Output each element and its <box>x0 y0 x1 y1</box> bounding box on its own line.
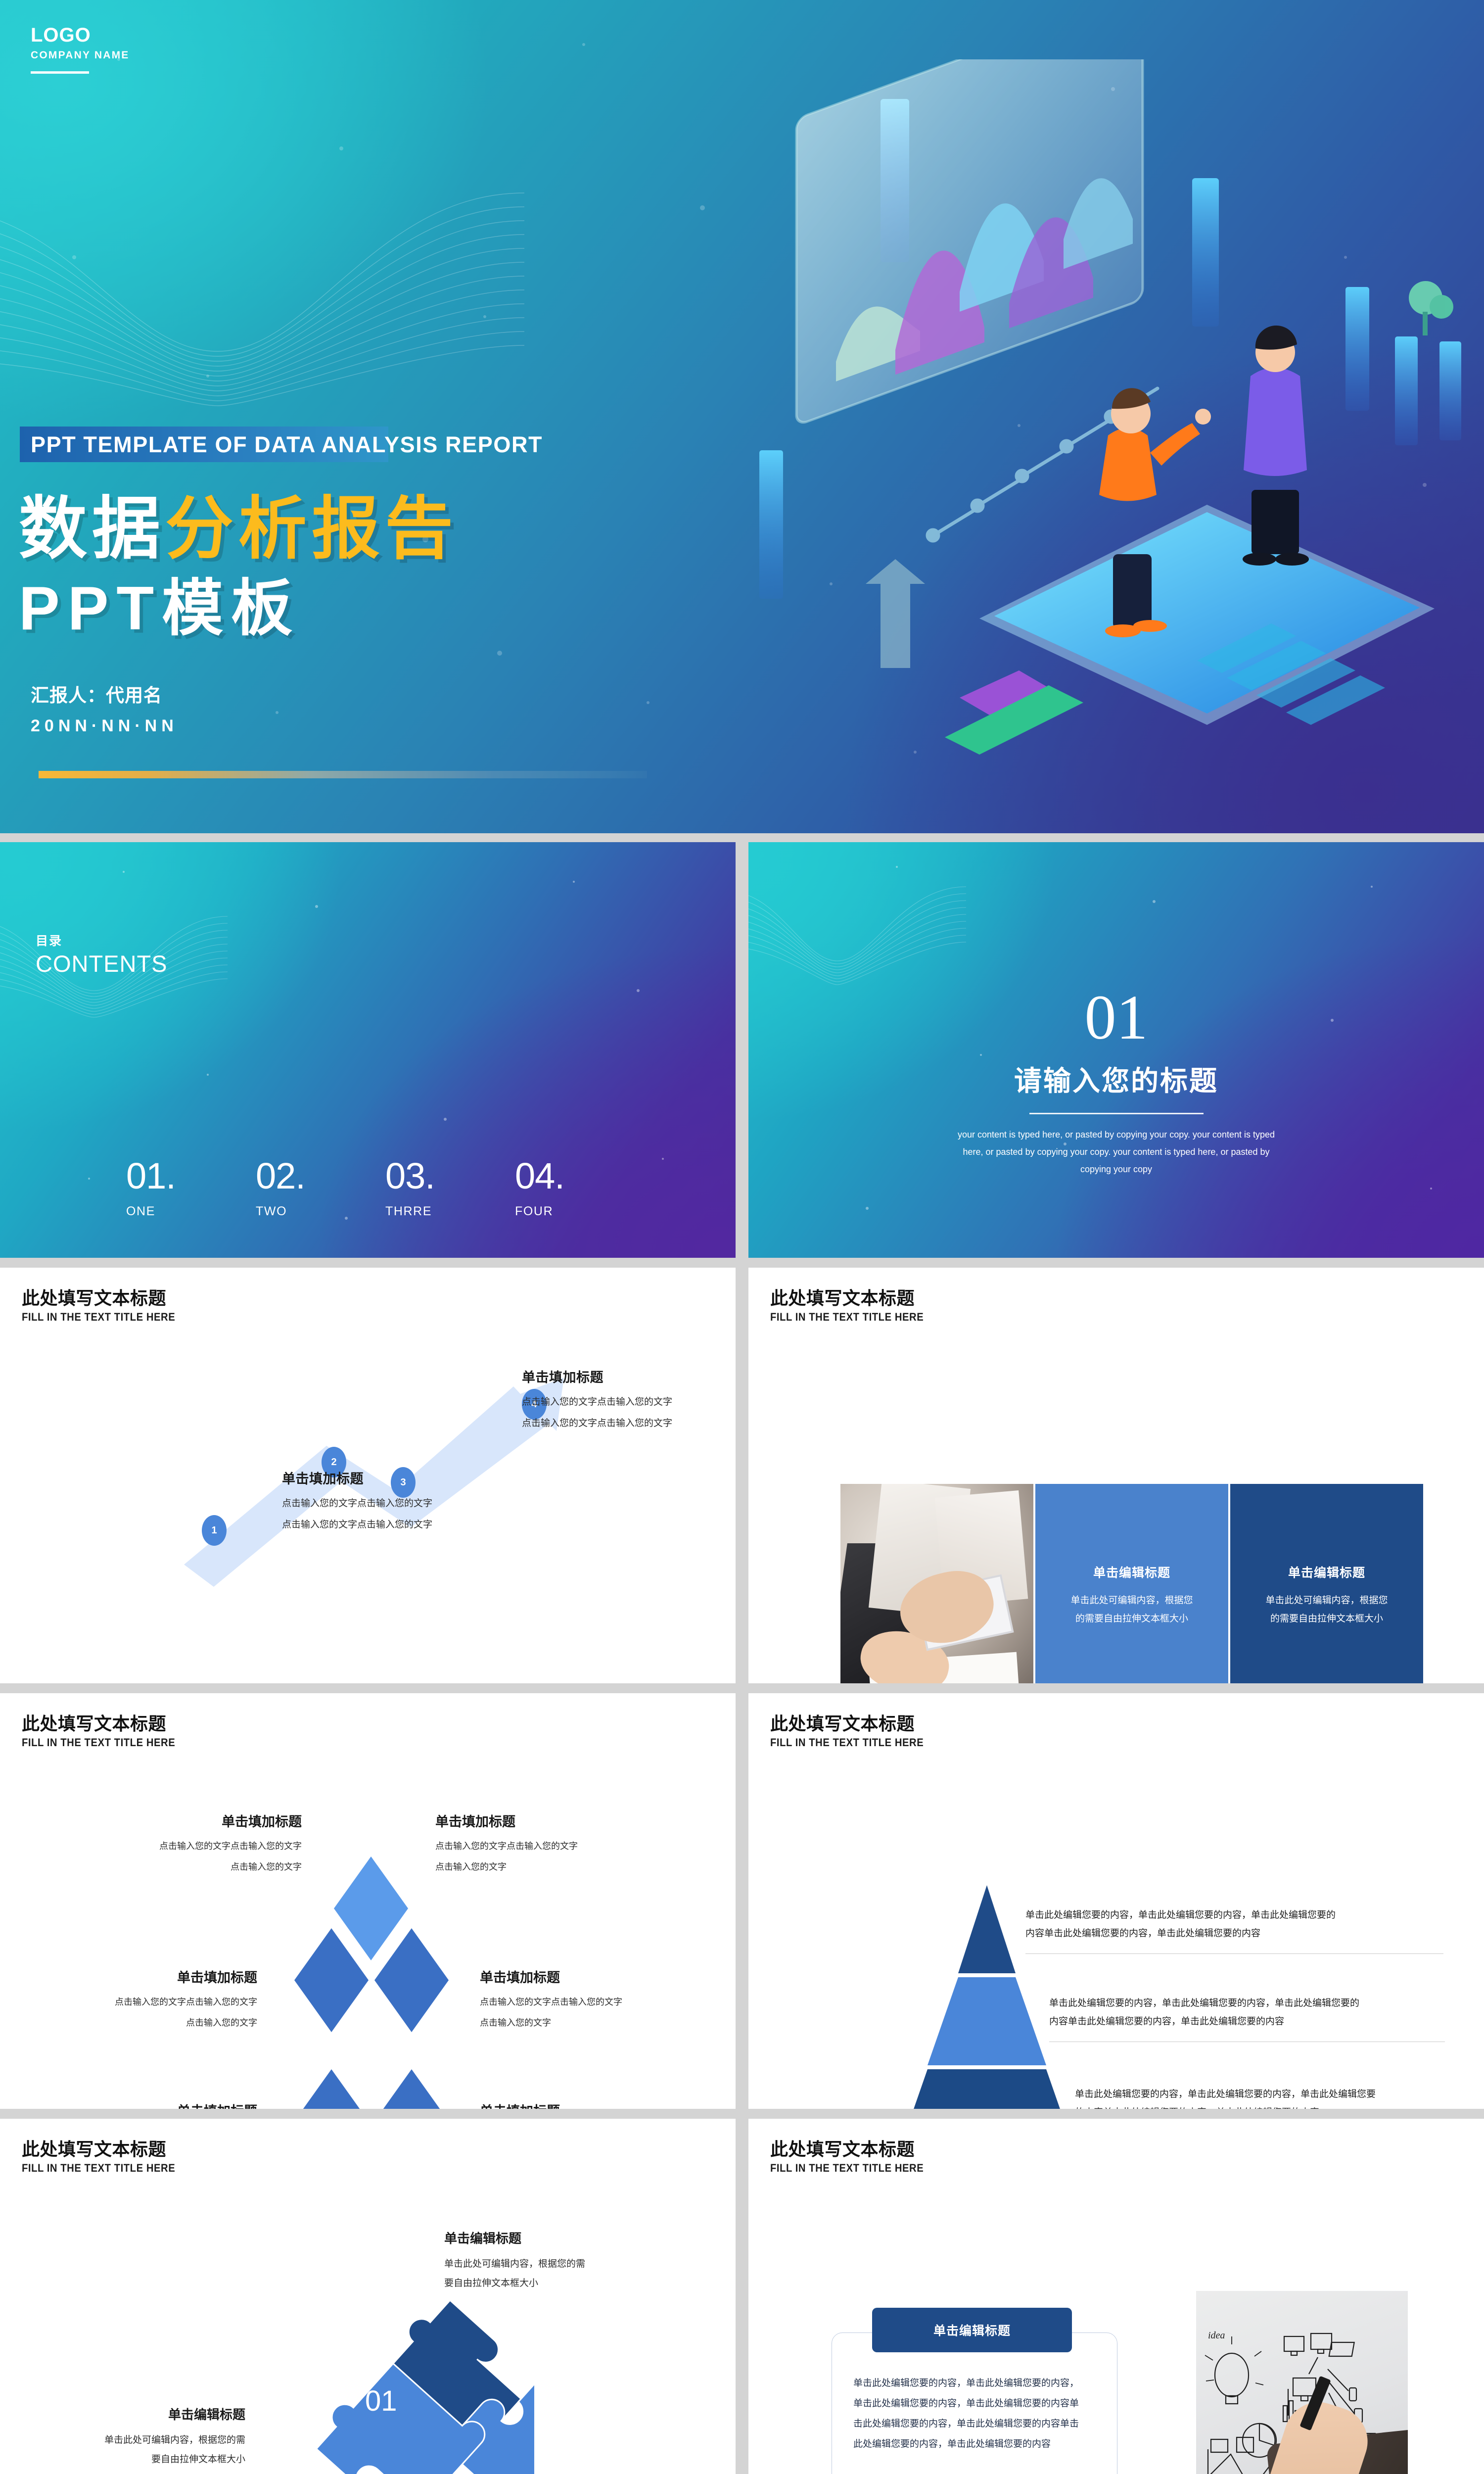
toc-item-number: 03. <box>385 1159 515 1193</box>
section-content: 01 请输入您的标题 your content is typed here, o… <box>748 986 1484 1178</box>
diamond-label-1: 单击填加标题 点击输入您的文字点击输入您的文字 点击输入您的文字 <box>89 1811 302 1877</box>
zigzag-block-heading: 单击填加标题 <box>282 1468 432 1487</box>
company-name-text: COMPANY NAME <box>31 49 129 61</box>
cover-presenter: 汇报人：代用名 <box>31 680 162 707</box>
card-line: 此处编辑您要的内容，单击此处编辑您要的内容 <box>853 2434 1097 2455</box>
idea-sketch-photo: idea <box>1196 2291 1408 2474</box>
cover-title-highlight: 分析报告 <box>165 491 458 567</box>
puzzle-label-heading: 单击编辑标题 <box>92 2405 245 2423</box>
toc-item-word: TWO <box>256 1204 385 1219</box>
puzzle-label-3: 单击编辑标题 单击此处可编辑内容，根据您的需 要自由拉伸文本框大小 <box>92 2405 245 2469</box>
pyramid-desc-line1: 单击此处编辑您要的内容，单击此处编辑您要的内容，单击此处编辑您要 <box>1075 2085 1446 2103</box>
diamond-label-line2: 点击输入您的文字 <box>435 1858 648 1877</box>
cover-gradient-rule <box>39 771 647 778</box>
pyramid-letter-b: B <box>748 2010 1049 2041</box>
slide-growth-arrow: 此处填写文本标题 FILL IN THE TEXT TITLE HERE 1 2… <box>0 1268 736 1683</box>
section-body-text: your content is typed here, or pasted by… <box>953 1126 1280 1178</box>
zigzag-block-heading: 单击填加标题 <box>522 1367 672 1386</box>
slide-pyramid: 此处填写文本标题 FILL IN THE TEXT TITLE HERE A B… <box>748 1693 1484 2109</box>
page-title: 此处填写文本标题 FILL IN THE TEXT TITLE HERE <box>770 1288 937 1324</box>
diamond-label-6: 单击填加标题 点击输入您的文字点击输入您的文字 点击输入您的文字 <box>480 2100 678 2109</box>
section-divider-rule <box>1029 1113 1204 1114</box>
toc-item-word: FOUR <box>515 1204 645 1219</box>
diamond-label-heading: 单击填加标题 <box>480 2100 678 2109</box>
diamond-label-heading: 单击填加标题 <box>59 1967 257 1986</box>
puzzle-label-heading: 单击编辑标题 <box>444 2229 585 2247</box>
diamond-label-line1: 点击输入您的文字点击输入您的文字 <box>480 1993 678 2012</box>
diamond-label-heading: 单击填加标题 <box>435 1811 648 1830</box>
zigzag-block-4: 单击填加标题 点击输入您的文字点击输入您的文字 点击输入您的文字点击输入您的文字 <box>522 1367 672 1433</box>
slide-section-divider: 01 请输入您的标题 your content is typed here, o… <box>748 842 1484 1258</box>
page-title: 此处填写文本标题 FILL IN THE TEXT TITLE HERE <box>770 1714 937 1749</box>
card-line: 单击此处编辑您要的内容，单击此处编辑您要的内容， <box>853 2374 1097 2394</box>
section-title: 请输入您的标题 <box>748 1059 1484 1099</box>
toc-item[interactable]: 04. FOUR 您的内容打在这里，或者通过复制您的文本后，在此框中选择粘贴，并… <box>515 1159 645 1258</box>
zigzag-block-line1: 点击输入您的文字点击输入您的文字 <box>282 1494 432 1514</box>
diamond-label-4: 单击填加标题 点击输入您的文字点击输入您的文字 点击输入您的文字 <box>480 1967 678 2033</box>
zigzag-badge-1[interactable]: 1 <box>202 1515 227 1546</box>
pyramid-desc-line1: 单击此处编辑您要的内容，单击此处编辑您要的内容，单击此处编辑您要的 <box>1049 1994 1445 2012</box>
logo-underline <box>31 71 89 74</box>
pyramid-desc-line2: 内容单击此处编辑您要的内容，单击此处编辑您要的内容 <box>1025 1924 1443 1943</box>
diamond-label-2: 单击填加标题 点击输入您的文字点击输入您的文字 点击输入您的文字 <box>435 1811 648 1877</box>
toc-item-number: 02. <box>256 1159 385 1193</box>
pyramid-desc-line2: 内容单击此处编辑您要的内容，单击此处编辑您要的内容 <box>1049 2012 1445 2031</box>
toc-item-word: ONE <box>126 1204 256 1219</box>
pyramid-desc-b: 单击此处编辑您要的内容，单击此处编辑您要的内容，单击此处编辑您要的 内容单击此处… <box>1049 1994 1445 2042</box>
info-box-line1: 单击此处可编辑内容，根据您 <box>1070 1592 1193 1609</box>
cover-title-line2: PPT模板 <box>19 578 300 639</box>
pyramid-desc-c: 单击此处编辑您要的内容，单击此处编辑您要的内容，单击此处编辑您要 的内容单击此处… <box>1075 2085 1446 2109</box>
toc-heading-en: CONTENTS <box>36 950 168 977</box>
cover-date: 20NN·NN·NN <box>31 716 178 736</box>
zigzag-block-line1: 点击输入您的文字点击输入您的文字 <box>522 1393 672 1412</box>
toc-item-word: THRRE <box>385 1204 515 1219</box>
info-box-dark-blue[interactable]: 单击编辑标题 单击此处可编辑内容，根据您 的需要自由拉伸文本框大小 <box>1230 1484 1423 1683</box>
diamond-label-heading: 单击填加标题 <box>480 1967 678 1986</box>
slide-photo-two-boxes: 此处填写文本标题 FILL IN THE TEXT TITLE HERE 单击编… <box>748 1268 1484 1683</box>
page-title-cn: 此处填写文本标题 <box>770 1288 937 1308</box>
idea-word: idea <box>1208 2330 1225 2341</box>
info-box-line1: 单击此处可编辑内容，根据您 <box>1265 1592 1388 1609</box>
slide-table-of-contents: 目录 CONTENTS 01. ONE 您的内容打在这里，或者通过复制您的文本后… <box>0 842 736 1258</box>
puzzle-label-line1: 单击此处可编辑内容，根据您的需 <box>92 2431 245 2449</box>
diamond-label-line1: 点击输入您的文字点击输入您的文字 <box>435 1837 648 1856</box>
puzzle-number-01: 01 <box>365 2385 397 2417</box>
card-line: 击此处编辑您要的内容，单击此处编辑您要的内容单击 <box>853 2414 1097 2434</box>
person-purple <box>1243 326 1309 566</box>
card-tab-1[interactable]: 单击编辑标题 <box>872 2308 1072 2352</box>
page-title-cn: 此处填写文本标题 <box>770 2140 937 2159</box>
slide-puzzle: 此处填写文本标题 FILL IN THE TEXT TITLE HERE 01 … <box>0 2119 736 2474</box>
puzzle-label-line1: 单击此处可编辑内容，根据您的需 <box>444 2255 585 2273</box>
page-title-cn: 此处填写文本标题 <box>22 1714 188 1734</box>
cover-logo-block: LOGO COMPANY NAME <box>31 25 129 74</box>
card-body-1: 单击此处编辑您要的内容，单击此处编辑您要的内容， 单击此处编辑您要的内容，单击此… <box>853 2374 1097 2454</box>
toc-item-number: 04. <box>515 1159 645 1193</box>
info-box-line2: 的需要自由拉伸文本框大小 <box>1075 1610 1188 1627</box>
diamond-label-line1: 点击输入您的文字点击输入您的文字 <box>59 1993 257 2012</box>
puzzle-label-line2: 要自由拉伸文本框大小 <box>92 2450 245 2469</box>
page-title: 此处填写文本标题 FILL IN THE TEXT TITLE HERE <box>770 2140 937 2175</box>
puzzle-label-line2: 要自由拉伸文本框大小 <box>444 2274 585 2292</box>
diamond-label-3: 单击填加标题 点击输入您的文字点击输入您的文字 点击输入您的文字 <box>59 1967 257 2033</box>
page-title-en: FILL IN THE TEXT TITLE HERE <box>770 1736 924 1749</box>
zigzag-block-line2: 点击输入您的文字点击输入您的文字 <box>282 1516 432 1535</box>
diamond-label-line2: 点击输入您的文字 <box>89 1858 302 1877</box>
zigzag-block-2: 单击填加标题 点击输入您的文字点击输入您的文字 点击输入您的文字点击输入您的文字 <box>282 1468 432 1535</box>
page-title-en: FILL IN THE TEXT TITLE HERE <box>770 1311 924 1324</box>
info-box-title: 单击编辑标题 <box>1093 1563 1170 1581</box>
page-title-en: FILL IN THE TEXT TITLE HERE <box>770 2162 924 2175</box>
meeting-photo <box>840 1484 1033 1683</box>
toc-item[interactable]: 03. THRRE 您的内容打在这里，或者通过复制您的文本后，在此框中选择粘贴，… <box>385 1159 515 1258</box>
isometric-data-illustration <box>732 59 1474 772</box>
cover-eyebrow-text: PPT TEMPLATE OF DATA ANALYSIS REPORT <box>31 431 407 458</box>
diamond-right-upper[interactable] <box>374 1928 449 2032</box>
pyramid-desc-a: 单击此处编辑您要的内容，单击此处编辑您要的内容，单击此处编辑您要的 内容单击此处… <box>1025 1906 1443 1954</box>
slide-deck: LOGO COMPANY NAME PPT TEMPLATE OF DATA A… <box>0 0 1484 2474</box>
toc-heading: 目录 CONTENTS <box>36 931 168 977</box>
page-title-en: FILL IN THE TEXT TITLE HERE <box>22 2162 175 2175</box>
page-title-en: FILL IN THE TEXT TITLE HERE <box>22 1736 175 1749</box>
diamond-right-lower[interactable] <box>374 2069 449 2109</box>
cover-title-plain: 数据 <box>19 491 165 567</box>
pyramid-letter-a: A <box>748 1933 1049 1964</box>
pyramid-desc-line2: 的内容单击此处编辑您要的内容，单击此处编辑您要的内容 <box>1075 2103 1446 2109</box>
logo-text: LOGO <box>31 25 129 46</box>
diamond-left-upper[interactable] <box>294 1928 369 2032</box>
slide-diamond-grid: 此处填写文本标题 FILL IN THE TEXT TITLE HERE 单击填… <box>0 1693 736 2109</box>
info-box-medium-blue[interactable]: 单击编辑标题 单击此处可编辑内容，根据您 的需要自由拉伸文本框大小 <box>1035 1484 1228 1683</box>
pyramid-desc-line1: 单击此处编辑您要的内容，单击此处编辑您要的内容，单击此处编辑您要的 <box>1025 1906 1443 1924</box>
toc-item[interactable]: 02. TWO 您的内容打在这里，或者通过复制您的文本后，在此框中选择粘贴，并选… <box>256 1159 385 1258</box>
diamond-label-heading: 单击填加标题 <box>59 2100 257 2109</box>
pyramid-rule <box>1049 2042 1445 2042</box>
diamond-label-line2: 点击输入您的文字 <box>480 2014 678 2033</box>
pyramid-rule <box>1025 1953 1443 1954</box>
cover-title-line1: 数据分析报告 <box>19 495 458 563</box>
page-title-cn: 此处填写文本标题 <box>22 2140 188 2159</box>
page-title: 此处填写文本标题 FILL IN THE TEXT TITLE HERE <box>22 1714 188 1749</box>
slide-two-cards-image: 此处填写文本标题 FILL IN THE TEXT TITLE HERE 单击编… <box>748 2119 1484 2474</box>
diamond-left-lower[interactable] <box>294 2069 369 2109</box>
toc-item-list: 01. ONE 您的内容打在这里，或者通过复制您的文本后，在此框中选择粘贴，并选… <box>126 1159 720 1258</box>
info-box-line2: 的需要自由拉伸文本框大小 <box>1270 1610 1383 1627</box>
slide-cover: LOGO COMPANY NAME PPT TEMPLATE OF DATA A… <box>0 0 1484 833</box>
page-title-cn: 此处填写文本标题 <box>770 1714 937 1734</box>
card-line: 单击此处编辑您要的内容，单击此处编辑您要的内容单 <box>853 2394 1097 2414</box>
pyramid-letter-c: C <box>748 2098 1049 2109</box>
toc-item-number: 01. <box>126 1159 256 1193</box>
puzzle-label-1: 单击编辑标题 单击此处可编辑内容，根据您的需 要自由拉伸文本框大小 <box>444 2229 585 2292</box>
info-box-title: 单击编辑标题 <box>1288 1563 1365 1581</box>
toc-item[interactable]: 01. ONE 您的内容打在这里，或者通过复制您的文本后，在此框中选择粘贴，并选… <box>126 1159 256 1258</box>
section-number: 01 <box>748 986 1484 1049</box>
diamond-label-line1: 点击输入您的文字点击输入您的文字 <box>89 1837 302 1856</box>
zigzag-block-line2: 点击输入您的文字点击输入您的文字 <box>522 1414 672 1433</box>
diamond-label-heading: 单击填加标题 <box>89 1811 302 1830</box>
diamond-label-5: 单击填加标题 点击输入您的文字点击输入您的文字 点击输入您的文字 <box>59 2100 257 2109</box>
toc-heading-cn: 目录 <box>36 931 168 949</box>
diamond-label-line2: 点击输入您的文字 <box>59 2014 257 2033</box>
page-title: 此处填写文本标题 FILL IN THE TEXT TITLE HERE <box>22 2140 188 2175</box>
